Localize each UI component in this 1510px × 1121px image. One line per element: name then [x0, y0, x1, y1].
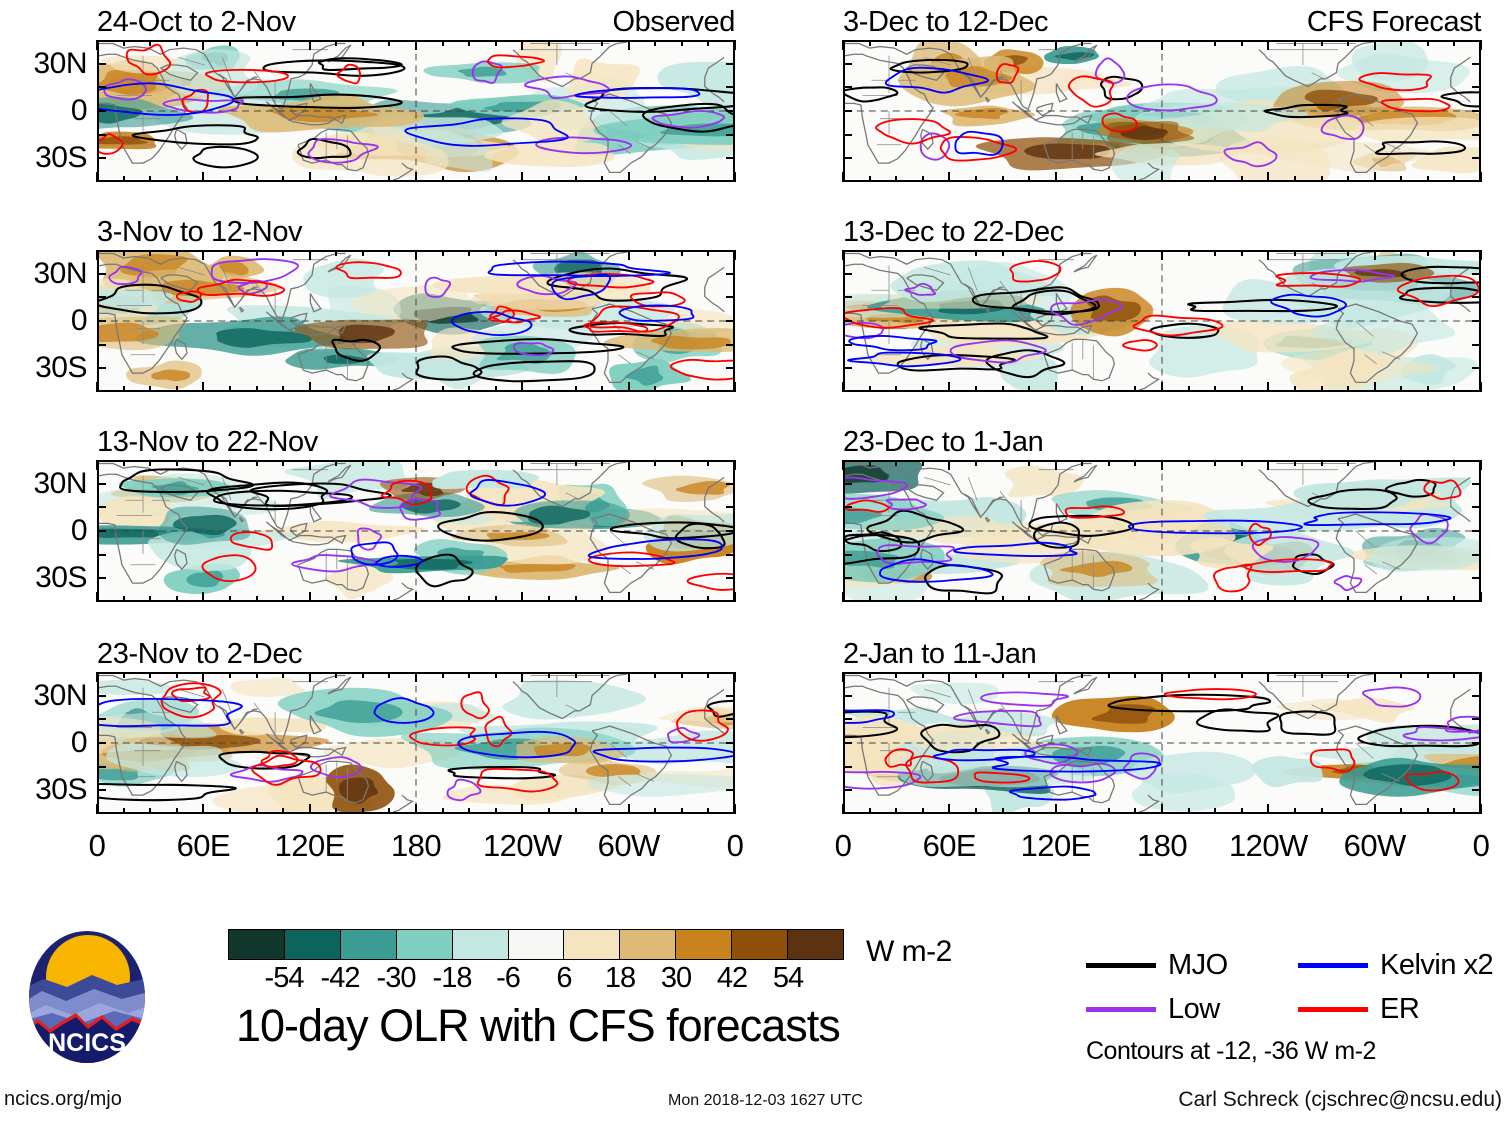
- x-tick: [1188, 672, 1190, 678]
- y-tick: [97, 695, 106, 697]
- x-tick: [922, 808, 924, 814]
- x-tick: [1480, 460, 1482, 470]
- colorbar-cell-5: [509, 930, 565, 959]
- x-tick: [335, 250, 337, 256]
- x-tick: [869, 250, 871, 256]
- y-tick: [1472, 483, 1481, 485]
- x-tick: [1347, 596, 1349, 602]
- x-tick: [1267, 672, 1269, 682]
- x-tick: [628, 460, 630, 470]
- x-tick: [1374, 250, 1376, 260]
- x-tick: [575, 672, 577, 678]
- x-tick: [1347, 672, 1349, 678]
- y-tick: [843, 86, 852, 88]
- legend-item-mjo: MJO: [1086, 949, 1228, 982]
- x-tick: [96, 250, 98, 260]
- x-tick: [521, 672, 523, 682]
- x-tick: [1374, 804, 1376, 814]
- x-tick: [309, 672, 311, 682]
- x-tick: [335, 460, 337, 466]
- x-tick: [1081, 386, 1083, 392]
- x-tick: [96, 672, 98, 682]
- x-tick: [176, 808, 178, 814]
- x-tick: [442, 596, 444, 602]
- x-tick: [975, 40, 977, 46]
- x-tick: [1241, 40, 1243, 46]
- y-tick: [843, 766, 852, 768]
- x-axis-label-3: 180: [391, 828, 441, 864]
- x-tick: [1134, 808, 1136, 814]
- x-tick: [256, 596, 258, 602]
- x-tick: [1002, 596, 1004, 602]
- x-tick: [1161, 672, 1163, 682]
- x-tick: [1347, 808, 1349, 814]
- x-tick: [1267, 460, 1269, 470]
- map-frame-obs-2[interactable]: [97, 250, 735, 392]
- x-tick: [1400, 460, 1402, 466]
- timestamp: Mon 2018-12-03 1627 UTC: [668, 1092, 863, 1110]
- x-tick: [548, 672, 550, 678]
- y-tick: [843, 273, 852, 275]
- y-axis-label-30S: 30S: [35, 773, 87, 807]
- x-tick: [1294, 250, 1296, 256]
- panel-title-fcst-2: 13-Dec to 22-Dec: [843, 216, 1064, 249]
- x-tick: [442, 176, 444, 182]
- x-tick: [335, 40, 337, 46]
- colorbar-tick-18: 18: [605, 962, 635, 995]
- legend-item-er: ER: [1298, 993, 1419, 1026]
- y-tick: [726, 789, 735, 791]
- x-tick: [707, 460, 709, 466]
- y-tick: [726, 577, 735, 579]
- x-tick: [96, 382, 98, 392]
- x-tick: [548, 386, 550, 392]
- x-tick: [869, 596, 871, 602]
- x-tick: [681, 808, 683, 814]
- x-tick: [1055, 250, 1057, 260]
- olr-anomaly-map: [99, 252, 733, 390]
- x-tick: [1241, 176, 1243, 182]
- x-tick: [734, 804, 736, 814]
- map-panel-fcst-3: 23-Dec to 1-Jan: [843, 460, 1481, 602]
- x-tick: [975, 386, 977, 392]
- colorbar-tick--42: -42: [321, 962, 360, 995]
- x-tick: [1241, 672, 1243, 678]
- y-tick: [726, 506, 735, 508]
- x-tick: [415, 382, 417, 392]
- x-tick: [1241, 460, 1243, 466]
- map-panel-fcst-4: 2-Jan to 11-Jan060E120E180120W60W0: [843, 672, 1481, 814]
- x-tick: [1081, 596, 1083, 602]
- x-tick: [1374, 460, 1376, 470]
- colorbar-cell-8: [676, 930, 732, 959]
- x-tick: [1321, 460, 1323, 466]
- x-tick: [601, 460, 603, 466]
- y-tick: [843, 554, 852, 556]
- x-tick: [1347, 40, 1349, 46]
- x-axis-label-5: 60W: [1344, 828, 1406, 864]
- legend-row-1: MJO Kelvin x2: [1086, 945, 1506, 989]
- x-axis-label-4: 120W: [1229, 828, 1308, 864]
- x-tick: [948, 460, 950, 470]
- x-tick: [869, 808, 871, 814]
- y-axis-label-30S: 30S: [35, 561, 87, 595]
- x-tick: [1427, 176, 1429, 182]
- x-tick: [948, 40, 950, 50]
- kelvin-line-swatch: [1298, 963, 1368, 968]
- x-tick: [1347, 386, 1349, 392]
- x-tick: [1294, 386, 1296, 392]
- x-tick: [335, 808, 337, 814]
- x-tick: [442, 808, 444, 814]
- y-tick: [97, 577, 106, 579]
- x-tick: [282, 386, 284, 392]
- x-tick: [654, 672, 656, 678]
- x-tick: [895, 672, 897, 678]
- x-tick: [601, 386, 603, 392]
- y-tick: [97, 742, 106, 744]
- x-tick: [1002, 672, 1004, 678]
- x-tick: [256, 808, 258, 814]
- x-tick: [309, 382, 311, 392]
- x-tick: [895, 386, 897, 392]
- y-tick: [97, 63, 106, 65]
- y-tick: [97, 530, 106, 532]
- x-tick: [123, 808, 125, 814]
- x-tick: [521, 40, 523, 50]
- x-tick: [575, 40, 577, 46]
- x-tick: [975, 176, 977, 182]
- x-tick: [415, 592, 417, 602]
- x-tick: [521, 460, 523, 470]
- y-tick: [726, 766, 735, 768]
- y-tick: [843, 134, 852, 136]
- x-tick: [1427, 596, 1429, 602]
- x-tick: [521, 382, 523, 392]
- x-tick: [202, 250, 204, 260]
- x-tick: [1321, 386, 1323, 392]
- y-tick: [1472, 157, 1481, 159]
- x-tick: [176, 250, 178, 256]
- figure-title: 10-day OLR with CFS forecasts: [236, 1000, 840, 1052]
- x-tick: [1374, 382, 1376, 392]
- x-tick: [1214, 40, 1216, 46]
- x-tick: [1400, 672, 1402, 678]
- x-tick: [1480, 382, 1482, 392]
- y-tick: [843, 530, 852, 532]
- x-tick: [1188, 40, 1190, 46]
- map-panel-obs-3: 13-Nov to 22-Nov30N030S: [97, 460, 735, 602]
- x-tick: [309, 172, 311, 182]
- y-tick: [1472, 695, 1481, 697]
- colorbar-tick--54: -54: [265, 962, 304, 995]
- x-tick: [869, 460, 871, 466]
- x-axis-label-6: 0: [727, 828, 744, 864]
- x-tick: [362, 672, 364, 678]
- x-tick: [1108, 460, 1110, 466]
- y-tick: [97, 273, 106, 275]
- colorbar-tick--6: -6: [496, 962, 520, 995]
- x-tick: [1188, 250, 1190, 256]
- x-tick: [707, 672, 709, 678]
- x-tick: [1188, 386, 1190, 392]
- x-tick: [1108, 250, 1110, 256]
- y-tick: [97, 296, 106, 298]
- x-tick: [1214, 176, 1216, 182]
- y-tick: [726, 695, 735, 697]
- x-tick: [869, 40, 871, 46]
- x-tick: [335, 672, 337, 678]
- x-tick: [309, 592, 311, 602]
- x-tick: [1028, 386, 1030, 392]
- y-tick: [1472, 718, 1481, 720]
- x-tick: [1480, 592, 1482, 602]
- x-tick: [1427, 40, 1429, 46]
- x-tick: [1161, 250, 1163, 260]
- x-tick: [282, 250, 284, 256]
- x-tick: [1108, 176, 1110, 182]
- x-tick: [1321, 808, 1323, 814]
- x-tick: [1294, 176, 1296, 182]
- x-tick: [282, 460, 284, 466]
- x-axis-label-3: 180: [1137, 828, 1187, 864]
- x-tick: [601, 808, 603, 814]
- colorbar-cell-3: [397, 930, 453, 959]
- x-tick: [362, 40, 364, 46]
- y-tick: [726, 320, 735, 322]
- x-tick: [256, 40, 258, 46]
- x-tick: [575, 386, 577, 392]
- x-tick: [309, 40, 311, 50]
- x-tick: [1161, 460, 1163, 470]
- x-tick: [1214, 596, 1216, 602]
- x-tick: [468, 808, 470, 814]
- map-frame-obs-4[interactable]: [97, 672, 735, 814]
- legend-item-low: Low: [1086, 993, 1220, 1026]
- x-tick: [681, 250, 683, 256]
- y-tick: [843, 718, 852, 720]
- x-tick: [1427, 808, 1429, 814]
- y-tick: [1472, 86, 1481, 88]
- x-tick: [734, 460, 736, 470]
- y-tick: [1472, 530, 1481, 532]
- x-tick: [895, 250, 897, 256]
- colorbar-tick-54: 54: [773, 962, 803, 995]
- x-tick: [734, 172, 736, 182]
- x-tick: [654, 386, 656, 392]
- x-tick: [1134, 460, 1136, 466]
- legend-row-2: Low ER: [1086, 989, 1506, 1033]
- x-tick: [282, 40, 284, 46]
- x-tick: [1400, 808, 1402, 814]
- x-tick: [149, 808, 151, 814]
- x-tick: [601, 176, 603, 182]
- x-tick: [628, 250, 630, 260]
- x-tick: [1427, 250, 1429, 256]
- x-tick: [1002, 250, 1004, 256]
- panel-title-obs-2: 3-Nov to 12-Nov: [97, 216, 302, 249]
- x-tick: [468, 460, 470, 466]
- x-tick: [256, 460, 258, 466]
- x-tick: [1480, 804, 1482, 814]
- y-tick: [1472, 506, 1481, 508]
- colorbar-tick--18: -18: [433, 962, 472, 995]
- x-tick: [415, 40, 417, 50]
- colorbar-cell-6: [564, 930, 620, 959]
- x-tick: [654, 40, 656, 46]
- y-tick: [726, 157, 735, 159]
- x-tick: [96, 592, 98, 602]
- x-tick: [415, 804, 417, 814]
- column-header-observed: Observed: [612, 6, 735, 39]
- x-tick: [1055, 672, 1057, 682]
- olr-anomaly-map: [99, 674, 733, 812]
- x-tick: [521, 592, 523, 602]
- y-axis-label-30N: 30N: [33, 467, 87, 501]
- y-axis-label-0: 0: [71, 94, 87, 128]
- column-header-forecast: CFS Forecast: [1307, 6, 1481, 39]
- x-tick: [468, 250, 470, 256]
- x-tick: [1480, 172, 1482, 182]
- x-tick: [628, 40, 630, 50]
- x-tick: [654, 808, 656, 814]
- x-tick: [707, 176, 709, 182]
- x-tick: [1134, 40, 1136, 46]
- panel-title-obs-4: 23-Nov to 2-Dec: [97, 638, 302, 671]
- x-tick: [96, 804, 98, 814]
- y-tick: [1472, 273, 1481, 275]
- x-tick: [1108, 672, 1110, 678]
- x-tick: [601, 672, 603, 678]
- x-tick: [654, 460, 656, 466]
- colorbar-cell-4: [453, 930, 509, 959]
- map-frame-fcst-3[interactable]: [843, 460, 1481, 602]
- x-tick: [468, 40, 470, 46]
- x-tick: [282, 672, 284, 678]
- x-tick: [1241, 808, 1243, 814]
- x-tick: [362, 250, 364, 256]
- x-tick: [149, 40, 151, 46]
- x-tick: [922, 460, 924, 466]
- x-tick: [1081, 460, 1083, 466]
- x-tick: [1374, 592, 1376, 602]
- x-tick: [681, 460, 683, 466]
- x-tick: [149, 176, 151, 182]
- x-tick: [869, 672, 871, 678]
- x-tick: [1453, 176, 1455, 182]
- map-frame-fcst-4[interactable]: [843, 672, 1481, 814]
- x-tick: [1134, 596, 1136, 602]
- x-tick: [895, 460, 897, 466]
- map-frame-obs-1[interactable]: [97, 40, 735, 182]
- y-tick: [843, 506, 852, 508]
- panel-title-obs-1: 24-Oct to 2-Nov: [97, 6, 296, 39]
- x-tick: [176, 460, 178, 466]
- x-tick: [123, 596, 125, 602]
- y-axis-label-30S: 30S: [35, 141, 87, 175]
- x-tick: [1427, 460, 1429, 466]
- colorbar-tick--30: -30: [377, 962, 416, 995]
- x-tick: [1188, 176, 1190, 182]
- x-tick: [149, 386, 151, 392]
- wave-legend: MJO Kelvin x2 Low ER: [1086, 945, 1506, 1033]
- y-tick: [726, 742, 735, 744]
- x-tick: [707, 386, 709, 392]
- x-tick: [895, 596, 897, 602]
- x-tick: [1294, 460, 1296, 466]
- x-tick: [922, 250, 924, 256]
- x-tick: [388, 40, 390, 46]
- y-tick: [97, 766, 106, 768]
- x-axis-label-2: 120E: [275, 828, 345, 864]
- olr-anomaly-map: [99, 42, 733, 180]
- y-tick: [97, 483, 106, 485]
- x-tick: [335, 596, 337, 602]
- x-tick: [1241, 386, 1243, 392]
- map-panel-obs-2: 3-Nov to 12-Nov30N030S: [97, 250, 735, 392]
- x-axis-label-2: 120E: [1021, 828, 1091, 864]
- x-axis-label-6: 0: [1473, 828, 1490, 864]
- x-tick: [895, 40, 897, 46]
- y-tick: [726, 367, 735, 369]
- x-tick: [123, 386, 125, 392]
- x-tick: [681, 672, 683, 678]
- x-tick: [362, 176, 364, 182]
- site-url[interactable]: ncics.org/mjo: [4, 1088, 122, 1111]
- x-tick: [575, 250, 577, 256]
- x-tick: [948, 672, 950, 682]
- x-tick: [948, 592, 950, 602]
- x-tick: [842, 804, 844, 814]
- x-tick: [1028, 250, 1030, 256]
- x-tick: [922, 672, 924, 678]
- y-tick: [97, 134, 106, 136]
- author-credit[interactable]: Carl Schreck (cjschrec@ncsu.edu): [1178, 1088, 1502, 1112]
- map-frame-obs-3[interactable]: [97, 460, 735, 602]
- x-tick: [1108, 596, 1110, 602]
- x-tick: [548, 250, 550, 256]
- y-tick: [97, 554, 106, 556]
- map-frame-fcst-2[interactable]: [843, 250, 1481, 392]
- map-panel-obs-4: 23-Nov to 2-Dec30N030S060E120E180120W60W…: [97, 672, 735, 814]
- x-tick: [1321, 250, 1323, 256]
- x-tick: [1081, 808, 1083, 814]
- x-tick: [1028, 176, 1030, 182]
- y-tick: [1472, 554, 1481, 556]
- x-tick: [948, 172, 950, 182]
- y-tick: [97, 367, 106, 369]
- x-tick: [176, 40, 178, 46]
- x-tick: [1134, 250, 1136, 256]
- x-tick: [842, 460, 844, 470]
- x-tick: [1453, 460, 1455, 466]
- y-tick: [97, 344, 106, 346]
- y-tick: [843, 577, 852, 579]
- x-tick: [654, 596, 656, 602]
- x-tick: [869, 176, 871, 182]
- panel-title-fcst-1: 3-Dec to 12-Dec: [843, 6, 1048, 39]
- y-tick: [726, 110, 735, 112]
- ncics-logo: NCICS: [22, 925, 152, 1075]
- map-frame-fcst-1[interactable]: [843, 40, 1481, 182]
- colorbar-swatches: [228, 929, 844, 960]
- x-tick: [575, 176, 577, 182]
- x-tick: [628, 672, 630, 682]
- x-axis-label-1: 60E: [177, 828, 230, 864]
- x-tick: [202, 40, 204, 50]
- x-tick: [681, 40, 683, 46]
- x-axis-labels: 060E120E180120W60W0: [97, 828, 735, 868]
